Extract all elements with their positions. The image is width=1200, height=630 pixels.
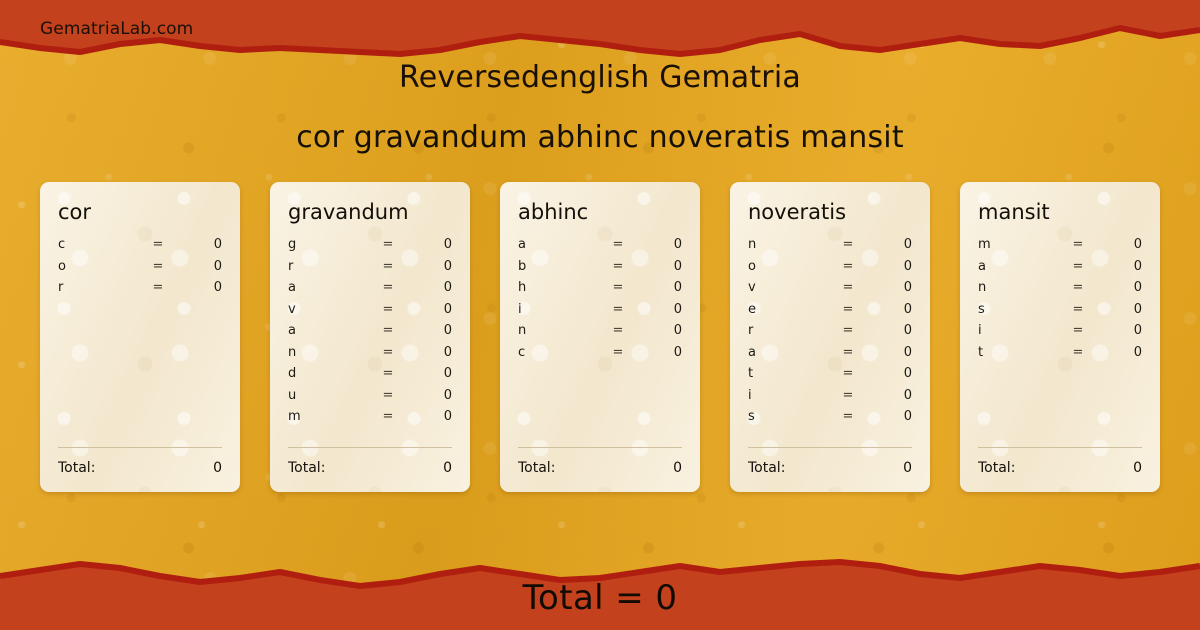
letter-value: 0	[410, 366, 452, 381]
equals-sign: =	[366, 409, 410, 424]
letter-row: n = 0	[978, 280, 1142, 302]
equals-sign: =	[826, 237, 870, 252]
phrase-text: cor gravandum abhinc noveratis mansit	[0, 120, 1200, 155]
letter-value: 0	[410, 237, 452, 252]
letter-row: a = 0	[288, 323, 452, 345]
letter-value: 0	[410, 302, 452, 317]
letter-value: 0	[640, 237, 682, 252]
letter-char: a	[518, 237, 596, 252]
site-name[interactable]: GematriaLab.com	[40, 19, 193, 39]
letter-row: c = 0	[58, 237, 222, 259]
letter-char: o	[58, 259, 136, 274]
letter-row: n = 0	[288, 345, 452, 367]
letter-char: n	[518, 323, 596, 338]
letter-char: h	[518, 280, 596, 295]
letter-char: c	[518, 345, 596, 360]
equals-sign: =	[826, 280, 870, 295]
letter-value: 0	[1100, 280, 1142, 295]
letter-value: 0	[410, 345, 452, 360]
letter-value: 0	[410, 409, 452, 424]
letter-char: a	[978, 259, 1056, 274]
letter-char: s	[748, 409, 826, 424]
letter-row: a = 0	[288, 280, 452, 302]
letter-char: c	[58, 237, 136, 252]
letter-row: i = 0	[748, 388, 912, 410]
equals-sign: =	[596, 280, 640, 295]
letter-char: r	[288, 259, 366, 274]
equals-sign: =	[366, 323, 410, 338]
card-total-value: 0	[213, 460, 222, 476]
equals-sign: =	[366, 302, 410, 317]
letter-row: g = 0	[288, 237, 452, 259]
letter-value: 0	[180, 280, 222, 295]
equals-sign: =	[366, 345, 410, 360]
letter-char: o	[748, 259, 826, 274]
letter-value: 0	[870, 388, 912, 403]
letter-char: i	[518, 302, 596, 317]
letter-value: 0	[410, 259, 452, 274]
card-total-label: Total:	[58, 460, 213, 476]
letter-char: r	[748, 323, 826, 338]
letter-row: n = 0	[748, 237, 912, 259]
card-total-label: Total:	[288, 460, 443, 476]
letter-char: d	[288, 366, 366, 381]
letter-char: a	[748, 345, 826, 360]
equals-sign: =	[596, 259, 640, 274]
card-total-row: Total: 0	[518, 448, 682, 492]
letter-value: 0	[640, 323, 682, 338]
letter-value: 0	[640, 302, 682, 317]
letter-row: v = 0	[748, 280, 912, 302]
card-word-title: abhinc	[518, 202, 682, 223]
equals-sign: =	[1056, 302, 1100, 317]
card-total-label: Total:	[748, 460, 903, 476]
letter-char: g	[288, 237, 366, 252]
letter-row: c = 0	[518, 345, 682, 367]
letter-row: t = 0	[748, 366, 912, 388]
letter-value: 0	[870, 237, 912, 252]
letter-value: 0	[640, 280, 682, 295]
letter-row: v = 0	[288, 302, 452, 324]
letter-value: 0	[1100, 323, 1142, 338]
card-word-title: noveratis	[748, 202, 912, 223]
letter-value: 0	[870, 366, 912, 381]
letter-value: 0	[870, 280, 912, 295]
letter-list: a = 0 b = 0 h = 0 i = 0	[518, 237, 682, 447]
letter-char: i	[978, 323, 1056, 338]
letter-row: s = 0	[978, 302, 1142, 324]
letter-value: 0	[870, 409, 912, 424]
letter-char: v	[288, 302, 366, 317]
equals-sign: =	[826, 409, 870, 424]
equals-sign: =	[1056, 237, 1100, 252]
equals-sign: =	[1056, 345, 1100, 360]
letter-char: m	[288, 409, 366, 424]
letter-value: 0	[1100, 345, 1142, 360]
letter-row: a = 0	[978, 259, 1142, 281]
letter-list: g = 0 r = 0 a = 0 v = 0	[288, 237, 452, 447]
letter-row: n = 0	[518, 323, 682, 345]
equals-sign: =	[826, 259, 870, 274]
letter-value: 0	[180, 259, 222, 274]
word-card: abhinc a = 0 b = 0 h = 0 i	[500, 182, 700, 492]
letter-char: n	[288, 345, 366, 360]
word-card: gravandum g = 0 r = 0 a = 0 v	[270, 182, 470, 492]
card-total-value: 0	[443, 460, 452, 476]
letter-char: t	[978, 345, 1056, 360]
equals-sign: =	[366, 388, 410, 403]
letter-char: m	[978, 237, 1056, 252]
letter-row: e = 0	[748, 302, 912, 324]
letter-row: r = 0	[58, 280, 222, 302]
equals-sign: =	[136, 280, 180, 295]
grand-total: Total = 0	[0, 578, 1200, 618]
letter-row: i = 0	[978, 323, 1142, 345]
card-total-value: 0	[903, 460, 912, 476]
equals-sign: =	[826, 388, 870, 403]
equals-sign: =	[1056, 259, 1100, 274]
equals-sign: =	[1056, 323, 1100, 338]
letter-char: v	[748, 280, 826, 295]
equals-sign: =	[826, 345, 870, 360]
card-total-value: 0	[673, 460, 682, 476]
word-card: mansit m = 0 a = 0 n = 0 s	[960, 182, 1160, 492]
letter-row: u = 0	[288, 388, 452, 410]
letter-value: 0	[1100, 302, 1142, 317]
letter-value: 0	[1100, 237, 1142, 252]
word-card: noveratis n = 0 o = 0 v = 0 e	[730, 182, 930, 492]
letter-value: 0	[870, 323, 912, 338]
card-total-row: Total: 0	[58, 448, 222, 492]
letter-row: r = 0	[288, 259, 452, 281]
letter-row: s = 0	[748, 409, 912, 431]
equals-sign: =	[596, 323, 640, 338]
letter-value: 0	[180, 237, 222, 252]
equals-sign: =	[826, 302, 870, 317]
letter-char: n	[978, 280, 1056, 295]
letter-row: o = 0	[748, 259, 912, 281]
letter-char: n	[748, 237, 826, 252]
card-total-value: 0	[1133, 460, 1142, 476]
letter-row: h = 0	[518, 280, 682, 302]
letter-value: 0	[410, 388, 452, 403]
card-total-label: Total:	[518, 460, 673, 476]
letter-list: n = 0 o = 0 v = 0 e = 0	[748, 237, 912, 447]
equals-sign: =	[826, 366, 870, 381]
letter-value: 0	[410, 280, 452, 295]
letter-row: i = 0	[518, 302, 682, 324]
letter-char: r	[58, 280, 136, 295]
equals-sign: =	[1056, 280, 1100, 295]
letter-row: t = 0	[978, 345, 1142, 367]
card-total-row: Total: 0	[748, 448, 912, 492]
letter-row: o = 0	[58, 259, 222, 281]
card-total-label: Total:	[978, 460, 1133, 476]
equals-sign: =	[596, 302, 640, 317]
letter-row: m = 0	[978, 237, 1142, 259]
letter-row: m = 0	[288, 409, 452, 431]
letter-list: m = 0 a = 0 n = 0 s = 0	[978, 237, 1142, 447]
letter-row: r = 0	[748, 323, 912, 345]
gematria-result-card: GematriaLab.com Reversedenglish Gematria…	[0, 0, 1200, 630]
letter-value: 0	[640, 345, 682, 360]
word-cards-container: cor c = 0 o = 0 r = 0	[40, 182, 1160, 492]
equals-sign: =	[366, 259, 410, 274]
equals-sign: =	[596, 345, 640, 360]
equals-sign: =	[366, 280, 410, 295]
equals-sign: =	[366, 237, 410, 252]
equals-sign: =	[366, 366, 410, 381]
equals-sign: =	[136, 259, 180, 274]
letter-value: 0	[1100, 259, 1142, 274]
card-total-row: Total: 0	[978, 448, 1142, 492]
card-word-title: mansit	[978, 202, 1142, 223]
word-card: cor c = 0 o = 0 r = 0	[40, 182, 240, 492]
letter-value: 0	[870, 345, 912, 360]
letter-char: e	[748, 302, 826, 317]
letter-char: a	[288, 323, 366, 338]
letter-row: b = 0	[518, 259, 682, 281]
letter-row: a = 0	[518, 237, 682, 259]
letter-value: 0	[640, 259, 682, 274]
equals-sign: =	[826, 323, 870, 338]
letter-row: d = 0	[288, 366, 452, 388]
letter-row: a = 0	[748, 345, 912, 367]
letter-char: u	[288, 388, 366, 403]
letter-value: 0	[870, 302, 912, 317]
letter-char: t	[748, 366, 826, 381]
letter-value: 0	[870, 259, 912, 274]
page-title: Reversedenglish Gematria	[0, 60, 1200, 95]
letter-char: s	[978, 302, 1056, 317]
letter-char: a	[288, 280, 366, 295]
letter-char: i	[748, 388, 826, 403]
letter-value: 0	[410, 323, 452, 338]
equals-sign: =	[596, 237, 640, 252]
letter-list: c = 0 o = 0 r = 0	[58, 237, 222, 447]
card-word-title: cor	[58, 202, 222, 223]
letter-char: b	[518, 259, 596, 274]
equals-sign: =	[136, 237, 180, 252]
card-word-title: gravandum	[288, 202, 452, 223]
card-total-row: Total: 0	[288, 448, 452, 492]
